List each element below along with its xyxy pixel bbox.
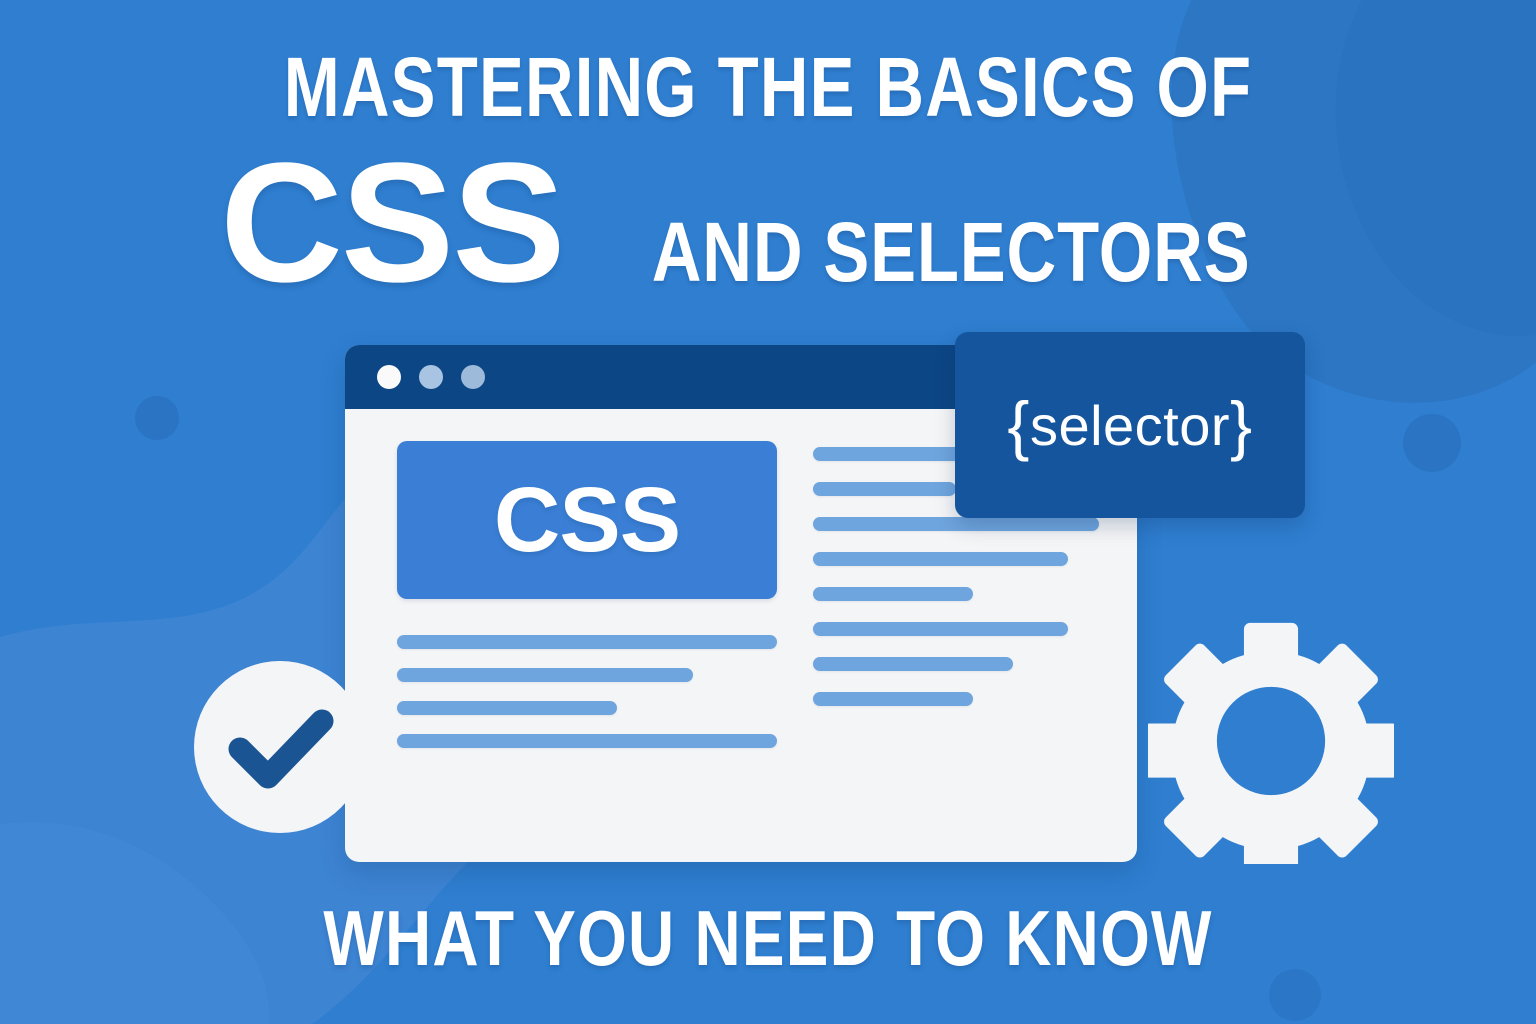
selector-badge-label: selector — [1030, 394, 1230, 457]
infographic-canvas: MASTERING THE BASICS OF CSS AND SELECTOR… — [0, 0, 1536, 1024]
decorative-circle-left — [135, 396, 179, 440]
placeholder-bar — [813, 482, 956, 496]
window-dot-minimize-icon[interactable] — [419, 365, 443, 389]
selector-badge: {selector} — [955, 332, 1305, 518]
placeholder-bar — [813, 552, 1068, 566]
css-hero-card: CSS — [397, 441, 777, 599]
placeholder-bar — [397, 635, 777, 649]
left-placeholder-bars — [397, 635, 777, 748]
placeholder-bar — [813, 622, 1068, 636]
open-brace-icon: { — [1007, 388, 1030, 462]
decorative-circle-right — [1403, 414, 1461, 472]
placeholder-bar — [813, 517, 1099, 531]
placeholder-bar — [813, 692, 973, 706]
placeholder-bar — [397, 701, 617, 715]
close-brace-icon: } — [1230, 388, 1253, 462]
placeholder-bar — [397, 734, 777, 748]
placeholder-bar — [813, 587, 973, 601]
placeholder-bar — [397, 668, 693, 682]
check-icon — [192, 659, 368, 835]
window-dot-close-icon[interactable] — [377, 365, 401, 389]
placeholder-bar — [813, 657, 1013, 671]
decorative-circle-bottom — [1269, 969, 1321, 1021]
gear-badge — [1148, 618, 1394, 864]
content-column-left: CSS — [397, 441, 777, 767]
css-hero-card-label: CSS — [494, 474, 680, 566]
window-dot-maximize-icon[interactable] — [461, 365, 485, 389]
selector-badge-text: {selector} — [1007, 397, 1252, 454]
check-badge — [192, 659, 368, 835]
gear-icon — [1148, 618, 1394, 864]
